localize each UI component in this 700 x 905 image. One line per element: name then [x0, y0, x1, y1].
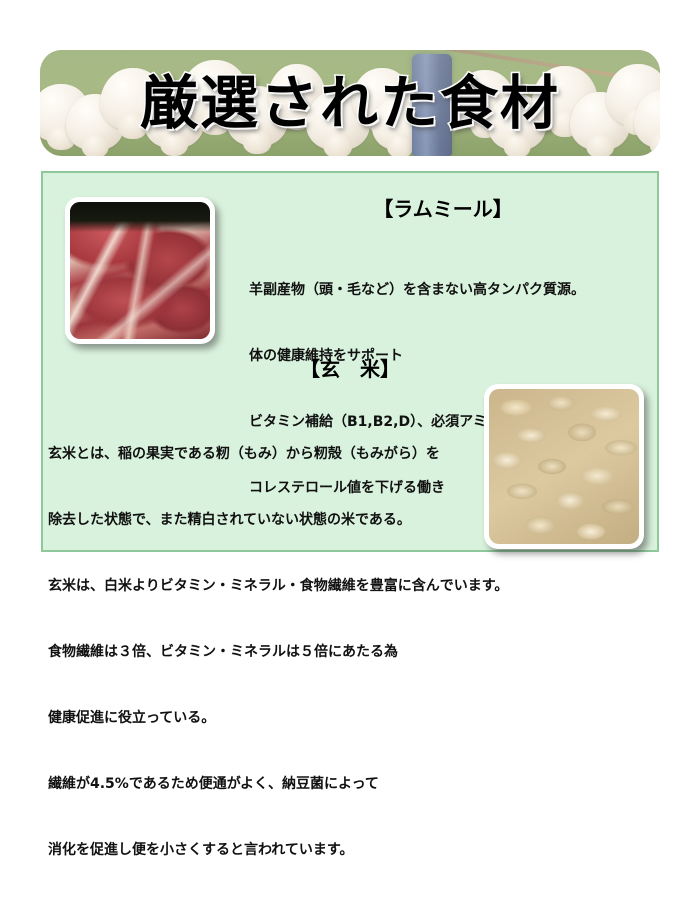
description-line: 繊維が4.5%であるため便通がよく、納豆菌によって	[48, 773, 508, 795]
brown-rice-photo	[489, 389, 639, 544]
brown-rice-description: 玄米とは、稲の果実である籾（もみ）から籾殻（もみがら）を 除去した状態で、また精…	[48, 399, 508, 905]
lamb-meat-photo	[70, 202, 210, 339]
description-line: 玄米とは、稲の果実である籾（もみ）から籾殻（もみがら）を	[48, 443, 508, 465]
description-line: 消化を促進し便を小さくすると言われています。	[48, 839, 508, 861]
lamb-meat-photo-frame	[65, 197, 215, 344]
description-line: 玄米は、白米よりビタミン・ミネラル・食物繊維を豊富に含んでいます。	[48, 575, 508, 597]
description-line: 食物繊維は３倍、ビタミン・ミネラルは５倍にあたる為	[48, 641, 508, 663]
page-title: 厳選された食材	[40, 74, 660, 132]
description-line: 羊副産物（頭・毛など）を含まない高タンパク質源。	[249, 279, 585, 301]
description-line: 健康促進に役立っている。	[48, 707, 508, 729]
brown-rice-image	[489, 389, 639, 544]
brown-rice-heading: 【玄 米】	[43, 359, 657, 379]
ingredients-panel: 【ラムミール】 羊副産物（頭・毛など）を含まない高タンパク質源。 体の健康維持を…	[41, 171, 659, 552]
description-line: 除去した状態で、また精白されていない状態の米である。	[48, 509, 508, 531]
lamb-meat-image	[70, 202, 210, 339]
lamb-meal-heading: 【ラムミール】	[233, 199, 653, 219]
hero-banner: 厳選された食材	[40, 50, 660, 156]
